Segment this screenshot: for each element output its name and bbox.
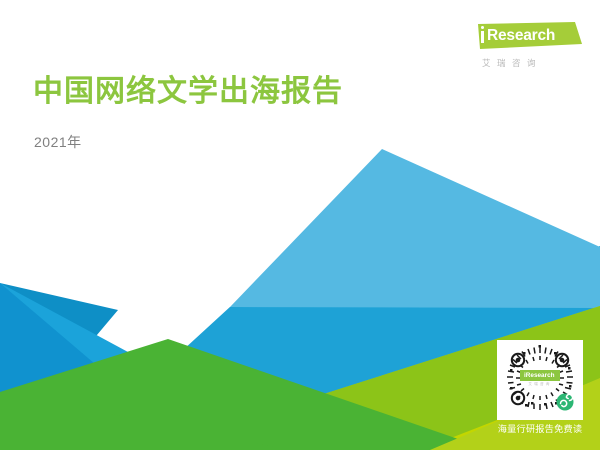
qr-code-card[interactable]: iResearch 艾瑞咨询 [497,340,583,420]
qr-center-logo-subtext: 艾瑞咨询 [520,382,560,387]
qr-center-brand-logo: iResearch 艾瑞咨询 [520,370,560,389]
miniprogram-badge-icon [557,394,574,411]
i-stem-icon [481,31,484,43]
i-dot-icon [481,26,484,29]
brand-chinese-name: 艾瑞咨询 [478,57,582,69]
report-year: 2021年 [34,132,82,152]
qr-caption: 海量行研报告免费读 [497,423,583,436]
qr-center-logo-text: iResearch [524,370,555,381]
brand-logo: Research 艾瑞咨询 [478,22,582,74]
qr-code-block[interactable]: iResearch 艾瑞咨询 海量行研报告免费读 [497,340,583,439]
page-title: 中国网络文学出海报告 [33,73,343,111]
brand-wordmark: Research [487,26,555,46]
report-cover-page: Research 艾瑞咨询 中国网络文学出海报告 2021年 [0,0,600,450]
qr-center-logo-bar: iResearch [520,370,560,381]
brand-logo-mark: Research [478,22,582,52]
